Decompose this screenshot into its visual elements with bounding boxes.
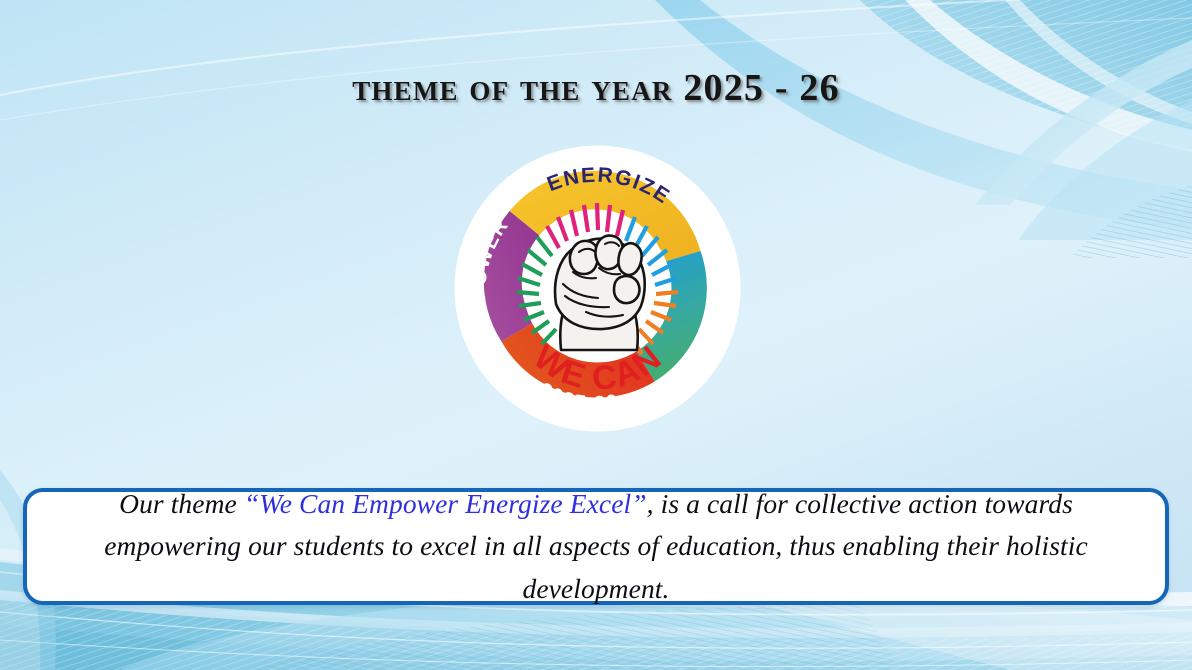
quote-lead: Our theme [119,488,244,519]
theme-logo: WE CAN EMPOWER ENERGIZE EXCEL 2025-26 [453,144,742,433]
page-title: Theme of the Year 2025 - 26 [0,66,1192,110]
raised-fist-icon [555,236,645,350]
theme-logo-svg: WE CAN EMPOWER ENERGIZE EXCEL 2025-26 [453,144,742,433]
theme-description-box: Our theme “We Can Empower Energize Excel… [23,488,1169,605]
quote-highlight: “We Can Empower Energize Excel” [244,488,647,519]
theme-description-text: Our theme “We Can Empower Energize Excel… [27,483,1165,611]
presentation-slide: Theme of the Year 2025 - 26 [0,0,1192,670]
